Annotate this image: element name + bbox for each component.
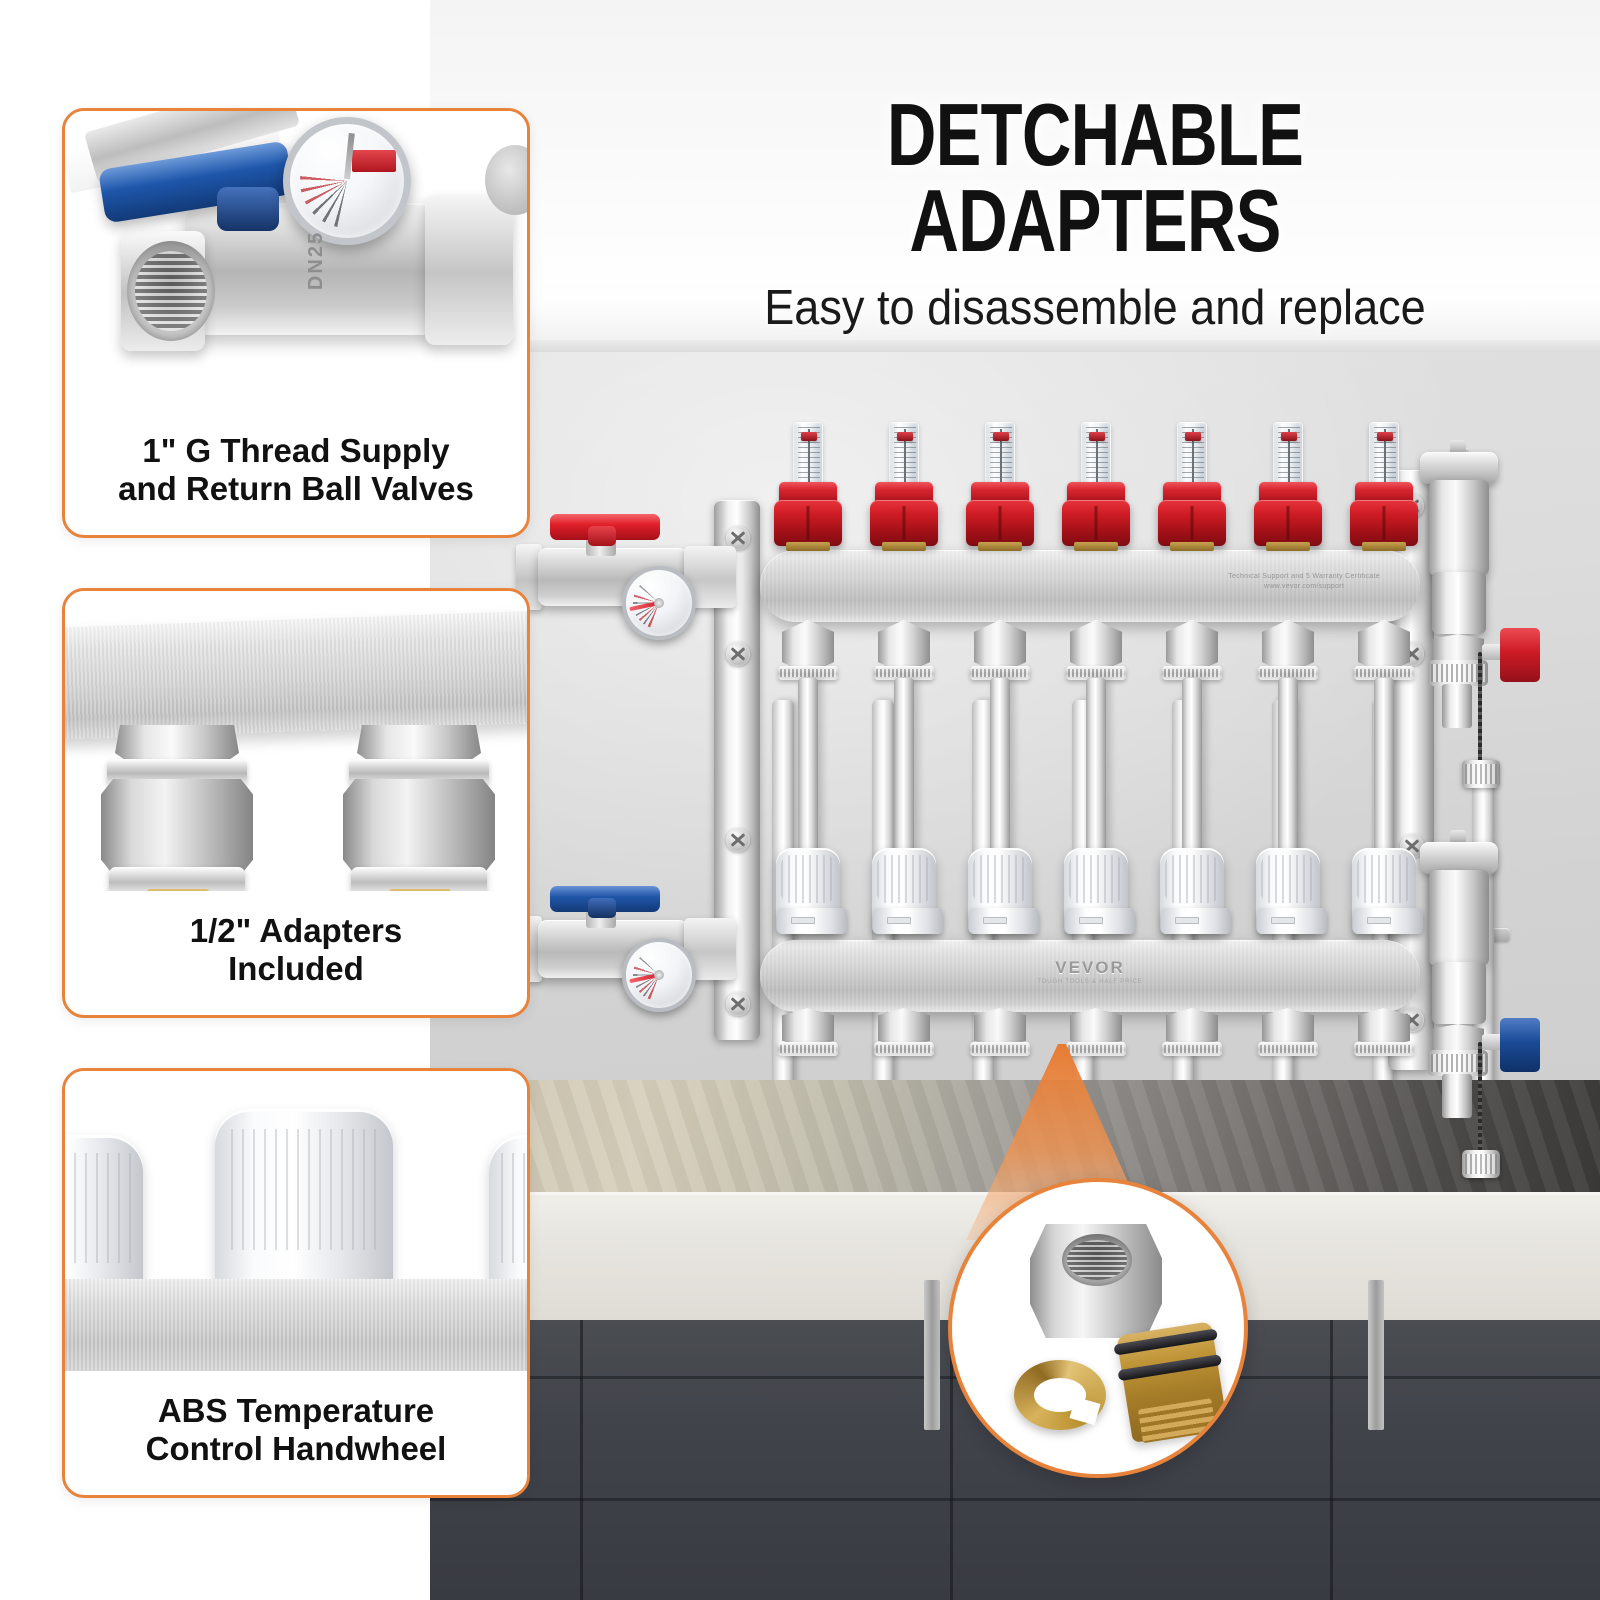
flow-meter-sight-glass — [1369, 422, 1399, 488]
bracket-screw — [726, 992, 750, 1016]
page-title: DETCHABLE ADAPTERS — [721, 92, 1470, 264]
caption-line-1: ABS Temperature — [158, 1392, 434, 1429]
brass-split-ring-part — [1014, 1360, 1106, 1430]
riser-tube — [798, 678, 818, 858]
caption-line-2: Control Handwheel — [146, 1430, 447, 1467]
riser-tube — [990, 678, 1010, 858]
caption-line-2: Included — [228, 950, 364, 987]
compression-collar — [1258, 1042, 1318, 1056]
flow-meter-brass-base — [1074, 542, 1118, 551]
drain-mini-valve-handle[interactable] — [1500, 1018, 1540, 1072]
flow-meter-float — [1281, 432, 1297, 441]
handwheel-base-ring — [873, 908, 943, 934]
card-caption: 1" G Thread Supply and Return Ball Valve… — [65, 405, 527, 535]
flow-meter-sight-glass — [889, 422, 919, 488]
adapter-body-hex — [101, 779, 253, 875]
abs-handwheel[interactable] — [1064, 848, 1128, 934]
gauge-red-zone — [352, 150, 396, 172]
handwheel-base-ring — [777, 908, 847, 934]
page-subtitle: Easy to disassemble and replace — [653, 280, 1536, 336]
drain-cap-tether — [1478, 1042, 1482, 1158]
valve-lever-hub — [217, 187, 279, 231]
flow-meter-cap[interactable] — [1062, 500, 1130, 546]
tile-grout-line — [1330, 1320, 1333, 1600]
handwheel-base-ring — [1161, 908, 1231, 934]
abs-handwheel[interactable] — [968, 848, 1032, 934]
riser-tube — [894, 678, 914, 858]
flow-meter-brass-base — [882, 542, 926, 551]
flow-meter-sight-glass — [793, 422, 823, 488]
bar-print-line-1: Technical Support and 5 Warranty Certifi… — [1228, 572, 1380, 582]
card-caption: ABS Temperature Control Handwheel — [65, 1365, 527, 1495]
compression-nut-thread-bore — [1062, 1234, 1132, 1286]
flow-meter-cap[interactable] — [774, 500, 842, 546]
valve-lever-hub — [588, 526, 616, 546]
brass-barbed-insert-part — [1116, 1321, 1228, 1443]
abs-handwheel[interactable] — [872, 848, 936, 934]
flow-meter-float — [1089, 432, 1105, 441]
tile-grout-line — [430, 1498, 1600, 1501]
flow-meter-sight-glass — [1177, 422, 1207, 488]
thermometer-gauge — [283, 117, 411, 245]
gauge-center-hub — [654, 598, 664, 608]
flow-meter-brass-base — [978, 542, 1022, 551]
gauge-center-hub — [654, 970, 664, 980]
flow-meter-cap[interactable] — [1350, 500, 1418, 546]
feature-card-ball-valves: DN25 1" G Thread Supply and Return Ball … — [62, 108, 530, 538]
handwheel-base-ring — [1353, 908, 1423, 934]
drain-cap[interactable] — [1462, 1150, 1500, 1178]
cabinet-leg — [1368, 1280, 1384, 1430]
brand-tagline: TOUGH TOOLS & HALF PRICE — [1037, 979, 1142, 985]
flow-meter-float — [1377, 432, 1393, 441]
handwheel-dome — [215, 1109, 393, 1305]
compression-collar — [874, 1042, 934, 1056]
flow-meter-sight-glass — [1081, 422, 1111, 488]
valve-lever-hub — [588, 898, 616, 918]
flow-meter-cap[interactable] — [1254, 500, 1322, 546]
bar-print-line-2: www.vevor.com/support — [1228, 582, 1380, 592]
radiant-heat-manifold: Technical Support and 5 Warranty Certifi… — [700, 430, 1500, 1110]
flow-meter-float — [801, 432, 817, 441]
tile-grout-line — [580, 1320, 583, 1600]
air-vent-tee — [1432, 962, 1486, 1024]
flow-meter-float — [993, 432, 1009, 441]
handwheel-illustration — [65, 1071, 527, 1371]
ball-valve-illustration: DN25 — [65, 111, 527, 411]
flow-meter-cap[interactable] — [1158, 500, 1226, 546]
drain-cap-tether — [1478, 652, 1482, 768]
handwheel-base-ring — [1257, 908, 1327, 934]
abs-handwheel[interactable] — [1256, 848, 1320, 934]
flow-meter-cap[interactable] — [966, 500, 1034, 546]
caption-line-1: 1/2" Adapters — [190, 912, 403, 949]
caption-line-1: 1" G Thread Supply — [142, 432, 449, 469]
adapter-illustration — [65, 591, 527, 891]
caption-line-2: and Return Ball Valves — [118, 470, 474, 507]
abs-handwheel[interactable] — [776, 848, 840, 934]
valve-size-marking: DN25 — [305, 231, 328, 290]
air-vent-tee — [1432, 572, 1486, 634]
riser-tube — [1086, 678, 1106, 858]
bracket-screw — [726, 642, 750, 666]
flow-meter-sight-glass — [1273, 422, 1303, 488]
valve-tail-piece — [425, 195, 513, 345]
drain-spout — [1442, 1074, 1472, 1118]
flow-meter-float — [897, 432, 913, 441]
g-thread-female-port — [127, 241, 215, 341]
flow-meter-brass-base — [786, 542, 830, 551]
flow-meter-brass-base — [1362, 542, 1406, 551]
return-thermometer-gauge — [622, 938, 696, 1012]
return-manifold-bar: VEVOR TOUGH TOOLS & HALF PRICE — [760, 940, 1420, 1012]
flow-meter-cap[interactable] — [870, 500, 938, 546]
riser-tube — [1374, 678, 1394, 858]
handwheel-base-ring — [1065, 908, 1135, 934]
detachable-adapter-callout — [948, 1178, 1248, 1478]
manifold-bar-section — [65, 610, 527, 739]
riser-tube — [1278, 678, 1298, 858]
product-infographic: Technical Support and 5 Warranty Certifi… — [0, 0, 1600, 1600]
adapter-body-hex — [343, 779, 495, 875]
drain-cap[interactable] — [1462, 760, 1500, 788]
vevor-logo: VEVOR TOUGH TOOLS & HALF PRICE — [1037, 958, 1142, 985]
air-vent-body — [1429, 870, 1489, 966]
handwheel-base-ring — [969, 908, 1039, 934]
flow-meter-sight-glass — [985, 422, 1015, 488]
o-ring — [1118, 1354, 1222, 1381]
flow-meter-brass-base — [1170, 542, 1214, 551]
abs-handwheel[interactable] — [1352, 848, 1416, 934]
manifold-bar-section — [65, 1279, 527, 1371]
supply-manifold-bar: Technical Support and 5 Warranty Certifi… — [760, 550, 1420, 622]
air-vent-body — [1429, 480, 1489, 576]
feature-card-handwheel: ABS Temperature Control Handwheel — [62, 1068, 530, 1498]
headline-block: DETCHABLE ADAPTERS Easy to disassemble a… — [615, 92, 1575, 336]
card-caption: 1/2" Adapters Included — [65, 885, 527, 1015]
riser-tube — [1182, 678, 1202, 858]
compression-collar — [1354, 1042, 1414, 1056]
cabinet-leg — [924, 1280, 940, 1430]
flow-meter-brass-base — [1266, 542, 1310, 551]
flow-meter-float — [1185, 432, 1201, 441]
feature-card-adapters: 1/2" Adapters Included — [62, 588, 530, 1018]
compression-collar — [778, 1042, 838, 1056]
brand-name: VEVOR — [1037, 958, 1142, 978]
bar-printed-text: Technical Support and 5 Warranty Certifi… — [1228, 572, 1380, 592]
drain-spout — [1442, 684, 1472, 728]
drain-mini-valve-handle[interactable] — [1500, 628, 1540, 682]
bracket-screw — [726, 828, 750, 852]
supply-thermometer-gauge — [622, 566, 696, 640]
abs-handwheel[interactable] — [1160, 848, 1224, 934]
